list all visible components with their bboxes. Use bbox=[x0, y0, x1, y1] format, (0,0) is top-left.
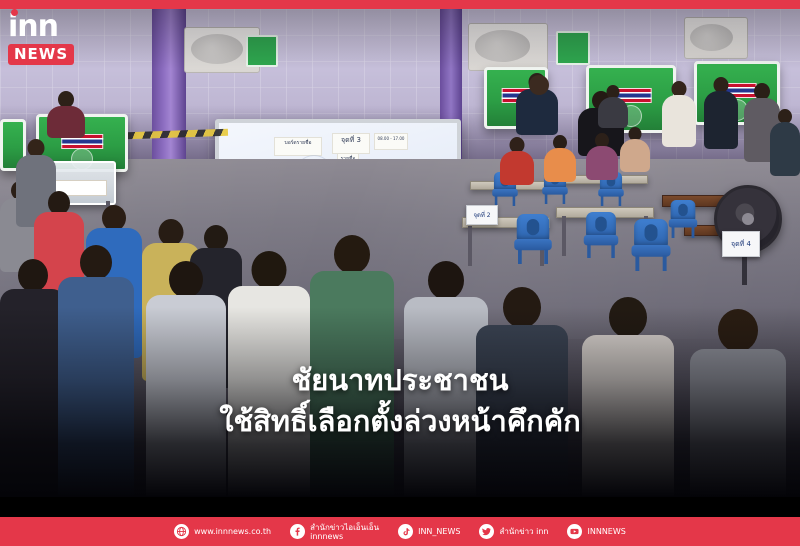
footer-label-facebook-line1: สำนักข่าวไอเอ็นเอ็น bbox=[310, 523, 379, 532]
plastic-chair bbox=[632, 219, 671, 271]
twitter-icon bbox=[479, 524, 494, 539]
person-head bbox=[334, 235, 370, 274]
person-standing bbox=[662, 81, 696, 145]
person-body bbox=[770, 122, 800, 176]
person-body bbox=[662, 95, 696, 147]
chair-back bbox=[671, 200, 696, 221]
footer-label-facebook: สำนักข่าวไอเอ็นเอ็น innnews bbox=[310, 523, 379, 541]
person-seated bbox=[500, 137, 534, 183]
person-head bbox=[252, 251, 287, 289]
table-leg bbox=[468, 226, 472, 266]
logo-dot-icon bbox=[11, 9, 18, 16]
chair-leg bbox=[544, 249, 548, 264]
chair-leg bbox=[601, 196, 604, 206]
person-body bbox=[704, 91, 738, 149]
chair-leg bbox=[692, 227, 695, 238]
chair-back bbox=[634, 219, 668, 248]
plastic-chair bbox=[514, 214, 552, 264]
person-standing bbox=[770, 109, 800, 175]
photo-top-shadow bbox=[0, 9, 800, 69]
person-head bbox=[169, 261, 203, 298]
chair-leg bbox=[635, 255, 639, 271]
person-body bbox=[598, 97, 628, 128]
footer-label-youtube: INNNEWS bbox=[587, 527, 625, 536]
plastic-chair bbox=[584, 212, 619, 258]
person-head bbox=[18, 259, 48, 292]
table-leg bbox=[562, 216, 566, 256]
footer-label-twitter: สำนักข่าว inn bbox=[499, 527, 548, 536]
chair-leg bbox=[518, 249, 522, 264]
chair-leg bbox=[619, 196, 622, 206]
chair-leg bbox=[563, 194, 566, 204]
chair-leg bbox=[611, 244, 614, 258]
footer-label-facebook-line2: innnews bbox=[310, 532, 379, 541]
news-image-card: บอร์ดรายชื่อ จุดที่ 3 08.00 - 17.00 หน่ว… bbox=[0, 0, 800, 546]
footer-item-youtube[interactable]: INNNEWS bbox=[567, 524, 625, 539]
facebook-icon bbox=[290, 524, 305, 539]
logo-wordmark: inn bbox=[8, 12, 80, 42]
board-note-time: 08.00 - 17.00 bbox=[374, 133, 408, 150]
person-seated bbox=[586, 133, 618, 179]
footer-item-twitter[interactable]: สำนักข่าว inn bbox=[479, 524, 548, 539]
person-seated bbox=[544, 135, 576, 181]
headline-overlay: ชัยนาทประชาชน ใช้สิทธิ์เลือกตั้งล่วงหน้า… bbox=[0, 360, 800, 442]
globe-icon bbox=[174, 524, 189, 539]
headline-line-2: ใช้สิทธิ์เลือกตั้งล่วงหน้าคึกคัก bbox=[0, 400, 800, 442]
top-red-rule bbox=[0, 0, 800, 9]
chair-leg bbox=[587, 244, 590, 258]
plastic-chair bbox=[669, 200, 698, 238]
person-official bbox=[46, 91, 86, 137]
chair-leg bbox=[513, 196, 516, 206]
point-placard-2: จุดที่ 2 bbox=[466, 205, 498, 225]
person-standing bbox=[598, 85, 628, 127]
chair-back bbox=[586, 212, 616, 237]
chair-leg bbox=[672, 227, 675, 238]
board-note-title: บอร์ดรายชื่อ bbox=[274, 137, 322, 156]
board-note-point: จุดที่ 3 bbox=[332, 133, 370, 154]
person-head bbox=[159, 219, 184, 246]
person-body bbox=[586, 146, 618, 180]
headline-line-1: ชัยนาทประชาชน bbox=[0, 360, 800, 400]
chair-leg bbox=[545, 194, 548, 204]
person-head bbox=[529, 75, 549, 95]
footer-item-tiktok[interactable]: INN_NEWS bbox=[398, 524, 460, 539]
tiktok-icon bbox=[398, 524, 413, 539]
person-head bbox=[428, 261, 464, 300]
person-body bbox=[500, 151, 534, 185]
chair-leg bbox=[663, 255, 667, 271]
black-separator-band bbox=[0, 497, 800, 517]
footer-item-website[interactable]: www.innnews.co.th bbox=[174, 524, 271, 539]
youtube-icon bbox=[567, 524, 582, 539]
person-body bbox=[544, 148, 576, 182]
logo-news-badge: NEWS bbox=[8, 44, 74, 65]
person-standing bbox=[704, 77, 738, 147]
person-body bbox=[620, 139, 650, 172]
social-footer-bar: www.innnews.co.th สำนักข่าวไอเอ็นเอ็น in… bbox=[0, 517, 800, 546]
person-seated bbox=[620, 127, 650, 171]
chair-back bbox=[517, 214, 550, 242]
person-head-top bbox=[528, 75, 550, 97]
person-body bbox=[47, 106, 85, 138]
person-head bbox=[80, 245, 112, 280]
footer-item-facebook[interactable]: สำนักข่าวไอเอ็นเอ็น innnews bbox=[290, 523, 379, 541]
inn-news-logo[interactable]: inn NEWS bbox=[8, 12, 80, 65]
footer-label-website: www.innnews.co.th bbox=[194, 527, 271, 536]
footer-label-tiktok: INN_NEWS bbox=[418, 527, 460, 536]
point-placard-4: จุดที่ 4 bbox=[722, 231, 760, 257]
